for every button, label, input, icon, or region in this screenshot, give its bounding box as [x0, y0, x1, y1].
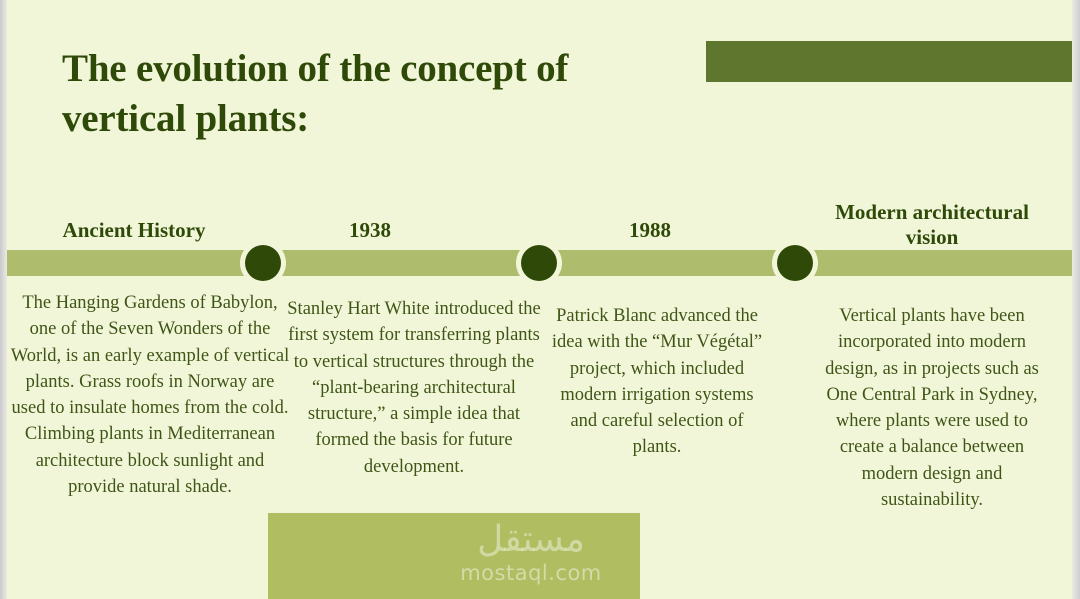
timeline-node-1	[245, 245, 281, 281]
milestone-heading-1988: 1988	[580, 218, 720, 243]
watermark-arabic-logo: مستقل	[436, 521, 626, 559]
slide-canvas: The evolution of the concept of vertical…	[0, 0, 1080, 599]
header-accent-bar	[706, 41, 1072, 82]
page-right-edge	[1072, 0, 1080, 599]
milestone-heading-ancient-history: Ancient History	[34, 218, 234, 243]
slide-title: The evolution of the concept of vertical…	[62, 44, 682, 144]
watermark-block: مستقل mostaql.com	[268, 513, 640, 599]
milestone-heading-1938: 1938	[300, 218, 440, 243]
milestone-body-ancient-history: The Hanging Gardens of Babylon, one of t…	[8, 290, 292, 500]
page-left-edge	[0, 0, 7, 599]
milestone-heading-modern-architectural-vision: Modern architectural vision	[816, 200, 1048, 250]
watermark-domain-label: mostaql.com	[436, 561, 626, 585]
milestone-body-1938: Stanley Hart White introduced the first …	[286, 296, 542, 480]
watermark-content: مستقل mostaql.com	[436, 521, 626, 585]
timeline-node-3	[777, 245, 813, 281]
timeline-node-2	[521, 245, 557, 281]
milestone-body-modern-architectural-vision: Vertical plants have been incorporated i…	[812, 303, 1052, 513]
milestone-body-1988: Patrick Blanc advanced the idea with the…	[550, 303, 764, 461]
